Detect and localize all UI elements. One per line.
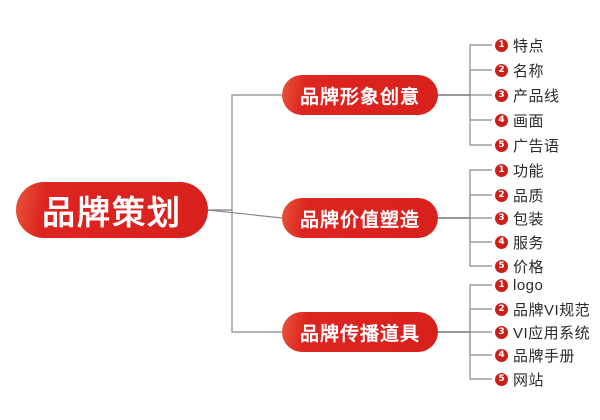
leaf-item[interactable]: 3 包装	[495, 208, 544, 228]
connector-root-branch-1	[208, 210, 282, 218]
leaf-label: 品牌手册	[513, 345, 575, 366]
leaf-item[interactable]: 4 品牌手册	[495, 345, 575, 365]
connector-branch-2-leaf-3	[438, 332, 492, 355]
leaf-label: 品牌VI规范	[513, 299, 590, 320]
leaf-item[interactable]: 4 画面	[495, 110, 544, 130]
leaf-bullet-icon: 4	[495, 236, 508, 249]
branch-node-2[interactable]: 品牌传播道具	[282, 312, 438, 352]
leaf-bullet-icon: 2	[495, 303, 508, 316]
root-node[interactable]: 品牌策划	[16, 182, 208, 238]
connector-branch-0-leaf-3	[438, 95, 492, 120]
branch-node-0[interactable]: 品牌形象创意	[282, 75, 438, 115]
leaf-label: 特点	[513, 35, 544, 56]
branch-node-1[interactable]: 品牌价值塑造	[282, 198, 438, 238]
leaf-item[interactable]: 5 网站	[495, 369, 544, 389]
leaf-item[interactable]: 5 价格	[495, 256, 544, 276]
branch-node-0-label: 品牌形象创意	[300, 82, 420, 109]
leaf-label: 画面	[513, 110, 544, 131]
leaf-label: 名称	[513, 60, 544, 81]
leaf-bullet-icon: 3	[495, 326, 508, 339]
connector-root-branch-2	[208, 210, 282, 332]
connector-branch-1-leaf-1	[438, 195, 492, 218]
leaf-item[interactable]: 2 品质	[495, 185, 544, 205]
leaf-bullet-icon: 1	[495, 164, 508, 177]
leaf-label: 包装	[513, 208, 544, 229]
connector-branch-1-leaf-0	[438, 170, 492, 218]
leaf-item[interactable]: 1 logo	[495, 275, 543, 295]
leaf-label: 网站	[513, 369, 544, 390]
leaf-label: logo	[513, 277, 543, 294]
leaf-bullet-icon: 1	[495, 39, 508, 52]
leaf-bullet-icon: 4	[495, 114, 508, 127]
mindmap-canvas: 品牌策划 品牌形象创意 品牌价值塑造 品牌传播道具 1 特点 2 名称 3 产品…	[0, 0, 600, 420]
connector-branch-1-leaf-3	[438, 218, 492, 242]
leaf-bullet-icon: 2	[495, 189, 508, 202]
leaf-label: 广告语	[513, 135, 560, 156]
connector-branch-0-leaf-1	[438, 70, 492, 95]
leaf-bullet-icon: 1	[495, 279, 508, 292]
leaf-label: 功能	[513, 160, 544, 181]
leaf-item[interactable]: 5 广告语	[495, 135, 560, 155]
leaf-label: VI应用系统	[513, 322, 590, 343]
leaf-label: 品质	[513, 185, 544, 206]
leaf-label: 产品线	[513, 85, 560, 106]
leaf-label: 价格	[513, 256, 544, 277]
leaf-item[interactable]: 3 VI应用系统	[495, 322, 590, 342]
leaf-bullet-icon: 5	[495, 139, 508, 152]
leaf-bullet-icon: 5	[495, 373, 508, 386]
connector-branch-2-leaf-1	[438, 309, 492, 332]
leaf-bullet-icon: 3	[495, 89, 508, 102]
branch-node-2-label: 品牌传播道具	[300, 319, 420, 346]
connector-root-branch-0	[208, 95, 282, 210]
leaf-bullet-icon: 5	[495, 260, 508, 273]
leaf-bullet-icon: 4	[495, 349, 508, 362]
leaf-item[interactable]: 4 服务	[495, 232, 544, 252]
leaf-bullet-icon: 2	[495, 64, 508, 77]
leaf-item[interactable]: 3 产品线	[495, 85, 560, 105]
leaf-bullet-icon: 3	[495, 212, 508, 225]
leaf-item[interactable]: 1 特点	[495, 35, 544, 55]
root-node-label: 品牌策划	[42, 186, 182, 234]
leaf-label: 服务	[513, 232, 544, 253]
leaf-item[interactable]: 1 功能	[495, 160, 544, 180]
leaf-item[interactable]: 2 品牌VI规范	[495, 299, 590, 319]
branch-node-1-label: 品牌价值塑造	[300, 205, 420, 232]
leaf-item[interactable]: 2 名称	[495, 60, 544, 80]
